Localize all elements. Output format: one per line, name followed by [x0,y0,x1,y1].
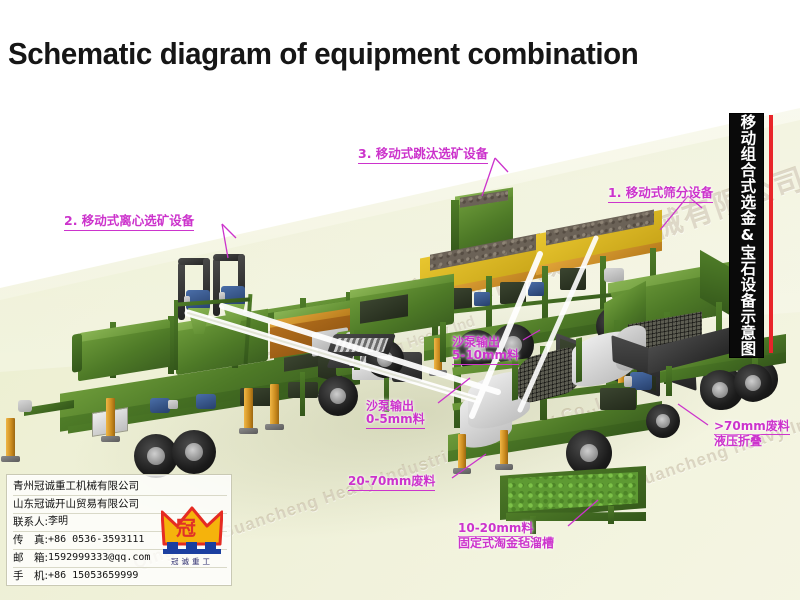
trailer-tire [172,430,216,474]
logo-subtitle: 冠诚重工 [159,556,225,567]
label-1-screening: 1. 移动式筛分设备 [608,182,713,203]
label-sluice-10-20: 10-20mm料 固定式淘金毡溜槽 [458,522,554,551]
label-waste-over-70: >70mm废料 液压折叠 [714,420,790,449]
label-3-jig: 3. 移动式跳汰选矿设备 [358,143,488,164]
label-sand-pump-5-10: 沙泵输出 5-10mm料 [452,336,519,365]
label-waste-20-70: 20-70mm废料 [348,472,435,491]
red-accent-bar [769,115,773,353]
schematic-canvas: Schematic diagram of equipment combinati… [0,0,800,600]
page-title: Schematic diagram of equipment combinati… [8,36,638,72]
vertical-banner-text: 移动组合式选金&宝石设备示意图 [739,114,755,357]
logo-character: 冠 [155,512,217,541]
label-sand-pump-0-5: 沙泵输出 0-5mm料 [366,400,425,429]
label-2-centrifugal: 2. 移动式离心选矿设备 [64,210,194,231]
vertical-banner: 移动组合式选金&宝石设备示意图 [729,113,764,358]
contact-company-1: 青州冠诚重工机械有限公司 [13,478,227,496]
company-logo: 冠 冠诚重工 [155,504,229,572]
